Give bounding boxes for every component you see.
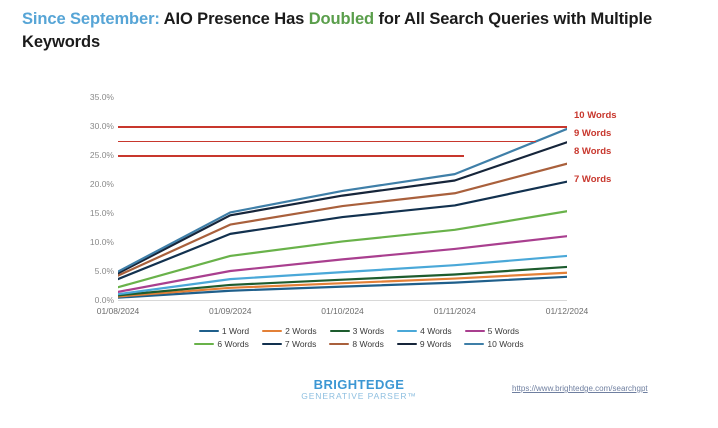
series-end-label: 7 Words xyxy=(574,174,611,185)
series-end-label: 8 Words xyxy=(574,146,611,157)
y-axis-tick: 15.0% xyxy=(56,208,114,218)
legend-label: 2 Words xyxy=(285,326,317,336)
legend-item[interactable]: 4 Words xyxy=(397,326,452,336)
line-chart: 0.0%5.0%10.0%15.0%20.0%25.0%30.0%35.0% 0… xyxy=(0,84,718,324)
reference-line xyxy=(118,126,567,128)
x-axis-tick: 01/12/2024 xyxy=(546,306,589,316)
y-axis-tick: 10.0% xyxy=(56,237,114,247)
legend-item[interactable]: 3 Words xyxy=(330,326,385,336)
slide-canvas: Since September: AIO Presence Has Double… xyxy=(0,0,718,428)
legend-color-swatch xyxy=(329,343,349,346)
series-end-label: 10 Words xyxy=(574,110,617,121)
legend-color-swatch xyxy=(194,343,214,346)
legend-color-swatch xyxy=(199,330,219,333)
legend-label: 1 Word xyxy=(222,326,249,336)
y-axis-tick: 25.0% xyxy=(56,150,114,160)
legend-label: 10 Words xyxy=(487,339,523,349)
x-axis-tick: 01/08/2024 xyxy=(97,306,140,316)
legend-item[interactable]: 10 Words xyxy=(464,339,523,349)
legend-label: 9 Words xyxy=(420,339,452,349)
x-axis-tick: 01/11/2024 xyxy=(434,306,476,316)
legend-color-swatch xyxy=(464,343,484,346)
series-line xyxy=(118,129,567,272)
title-highlight-blue: Since September: xyxy=(22,10,160,28)
legend-label: 3 Words xyxy=(353,326,385,336)
legend-label: 7 Words xyxy=(285,339,317,349)
y-axis-tick: 0.0% xyxy=(56,295,114,305)
y-axis-tick: 30.0% xyxy=(56,121,114,131)
legend-color-swatch xyxy=(262,343,282,346)
plot-area xyxy=(118,97,567,300)
y-axis-tick-labels: 0.0%5.0%10.0%15.0%20.0%25.0%30.0%35.0% xyxy=(52,97,114,300)
legend-row-first: 1 Word2 Words3 Words4 Words5 Words xyxy=(0,326,718,336)
legend-color-swatch xyxy=(465,330,485,333)
legend-item[interactable]: 6 Words xyxy=(194,339,249,349)
reference-line xyxy=(118,155,464,157)
legend-color-swatch xyxy=(397,343,417,346)
legend-item[interactable]: 7 Words xyxy=(262,339,317,349)
legend-row-second: 6 Words7 Words8 Words9 Words10 Words xyxy=(0,339,718,349)
legend-label: 8 Words xyxy=(352,339,384,349)
series-line xyxy=(118,142,567,273)
page-title: Since September: AIO Presence Has Double… xyxy=(22,8,702,55)
legend-label: 4 Words xyxy=(420,326,452,336)
y-axis-tick: 20.0% xyxy=(56,179,114,189)
legend-label: 5 Words xyxy=(488,326,520,336)
title-highlight-green: Doubled xyxy=(309,10,374,28)
legend-color-swatch xyxy=(397,330,417,333)
x-axis-tick: 01/10/2024 xyxy=(321,306,364,316)
legend-item[interactable]: 2 Words xyxy=(262,326,317,336)
series-end-label: 9 Words xyxy=(574,128,611,139)
legend-color-swatch xyxy=(330,330,350,333)
source-url-link[interactable]: https://www.brightedge.com/searchgpt xyxy=(512,384,648,393)
title-segment-one: AIO Presence Has xyxy=(164,10,305,28)
chart-legend: 1 Word2 Words3 Words4 Words5 Words 6 Wor… xyxy=(0,326,718,352)
legend-color-swatch xyxy=(262,330,282,333)
legend-item[interactable]: 5 Words xyxy=(465,326,520,336)
brand-tagline: GENERATIVE PARSER™ xyxy=(0,392,718,401)
reference-line xyxy=(118,141,536,143)
y-axis-tick: 35.0% xyxy=(56,92,114,102)
y-axis-tick: 5.0% xyxy=(56,266,114,276)
legend-item[interactable]: 1 Word xyxy=(199,326,249,336)
x-axis-tick: 01/09/2024 xyxy=(209,306,252,316)
legend-item[interactable]: 9 Words xyxy=(397,339,452,349)
legend-item[interactable]: 8 Words xyxy=(329,339,384,349)
legend-label: 6 Words xyxy=(217,339,249,349)
